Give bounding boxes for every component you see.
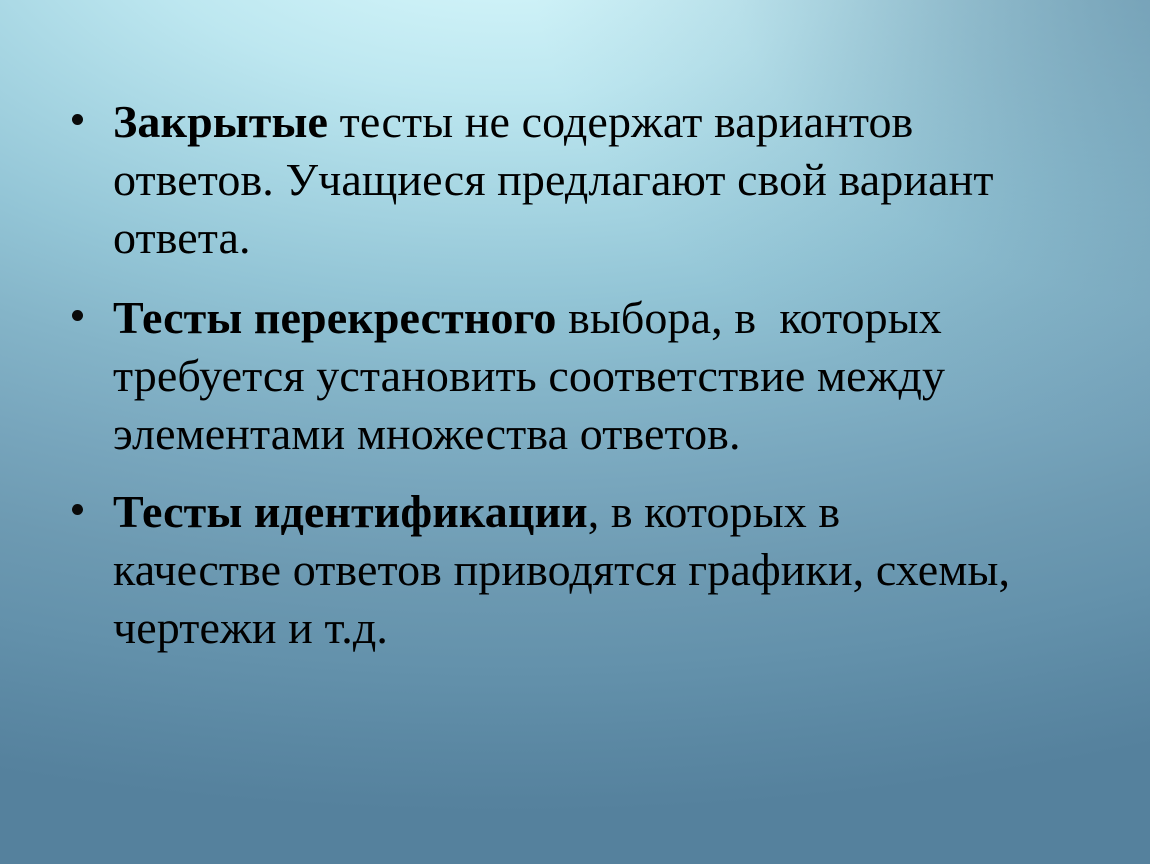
bullet-paragraph: Тесты идентификации, в которых в качеств… [113, 483, 1013, 657]
bullet-lead-term: Закрытые [113, 96, 328, 147]
bullet-paragraph: Тесты перекрестного выбора, в которых тр… [113, 289, 1013, 463]
bullet-dot-icon [72, 114, 83, 125]
bullet-body-text-before-gap: выбора, в [556, 292, 756, 343]
bullet-paragraph: Закрытые тесты не содержат вариантов отв… [113, 93, 1013, 267]
list-item[interactable]: Тесты идентификации, в которых в качеств… [63, 483, 1013, 657]
list-item[interactable]: Закрытые тесты не содержат вариантов отв… [63, 93, 1013, 267]
bullet-lead-term: Тесты перекрестного [113, 292, 556, 343]
list-item[interactable]: Тесты перекрестного выбора, в которых тр… [63, 289, 1013, 463]
bullet-lead-term: Тесты идентификации [113, 486, 588, 537]
bullet-dot-icon [72, 504, 83, 515]
bullet-extra-space [756, 292, 779, 343]
bullet-dot-icon [72, 310, 83, 321]
slide-canvas: Закрытые тесты не содержат вариантов отв… [0, 0, 1150, 864]
